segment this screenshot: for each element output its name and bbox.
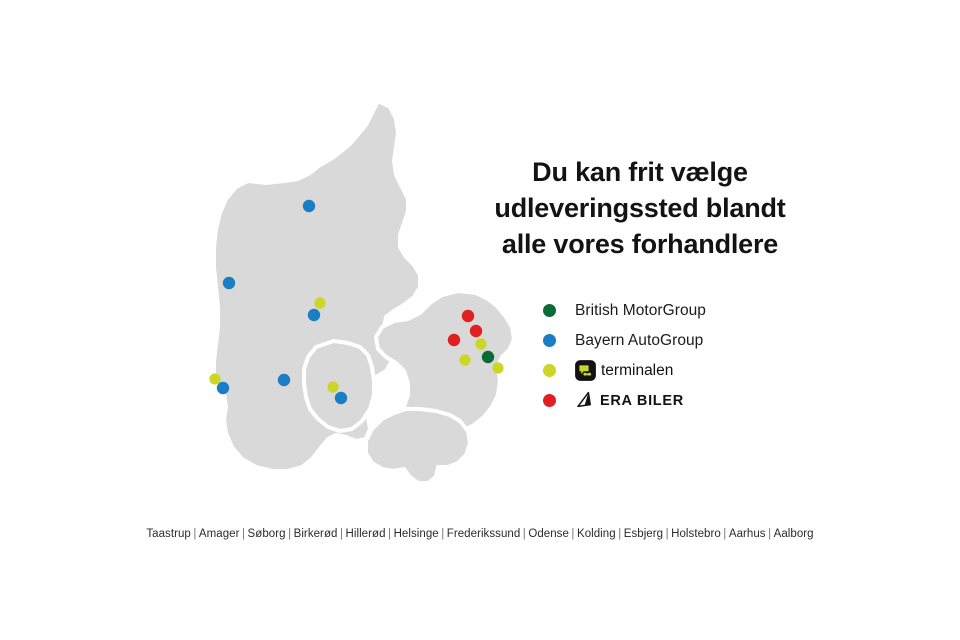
legend-item-era-biler[interactable]: ERA BILER bbox=[543, 388, 833, 413]
city-item: Odense bbox=[528, 528, 569, 540]
headline-line-2: udleveringssted blandt bbox=[470, 191, 810, 227]
terminalen-brand-lockup: terminalen bbox=[575, 360, 673, 381]
city-item: Helsinge bbox=[394, 528, 439, 540]
city-item: Frederikssund bbox=[447, 528, 521, 540]
city-separator: | bbox=[663, 528, 671, 540]
city-item: Søborg bbox=[248, 528, 286, 540]
map-marker-esbjerg-terminalen[interactable] bbox=[209, 373, 220, 384]
legend-dot-green bbox=[543, 304, 556, 317]
city-separator: | bbox=[191, 528, 199, 540]
era-biler-triangle-icon bbox=[575, 391, 595, 410]
city-separator: | bbox=[721, 528, 729, 540]
city-separator: | bbox=[766, 528, 774, 540]
city-item: Aarhus bbox=[729, 528, 766, 540]
map-marker-hillerod[interactable] bbox=[470, 325, 482, 337]
map-marker-soborg[interactable] bbox=[459, 354, 470, 365]
legend-dot-red bbox=[543, 394, 556, 407]
legend-label-bayern-autogroup: Bayern AutoGroup bbox=[575, 332, 703, 350]
city-item: Esbjerg bbox=[624, 528, 663, 540]
map-marker-aarhus-terminalen[interactable] bbox=[314, 297, 325, 308]
city-item: Holstebro bbox=[671, 528, 721, 540]
legend-label-terminalen: terminalen bbox=[601, 362, 673, 380]
city-item: Hillerød bbox=[346, 528, 386, 540]
city-separator: | bbox=[337, 528, 345, 540]
legend-dot-yellow bbox=[543, 364, 556, 377]
headline-line-1: Du kan frit vælge bbox=[470, 155, 810, 191]
poster-canvas: Du kan frit vælge udleveringssted blandt… bbox=[0, 0, 960, 640]
city-item: Taastrup bbox=[146, 528, 191, 540]
legend-label-era-biler: ERA BILER bbox=[600, 393, 684, 409]
map-marker-helsinge[interactable] bbox=[462, 310, 474, 322]
map-marker-odense-terminalen[interactable] bbox=[327, 381, 338, 392]
region-funen bbox=[304, 341, 374, 431]
legend-label-british-motorgroup: British MotorGroup bbox=[575, 302, 706, 320]
city-separator: | bbox=[439, 528, 447, 540]
map-marker-odense-bayern[interactable] bbox=[335, 392, 347, 404]
legend-item-bayern-autogroup[interactable]: Bayern AutoGroup bbox=[543, 328, 833, 353]
city-separator: | bbox=[386, 528, 394, 540]
dealer-legend: British MotorGroup Bayern AutoGroup term… bbox=[543, 298, 833, 418]
denmark-map-graphic bbox=[180, 95, 520, 500]
city-item: Amager bbox=[199, 528, 240, 540]
page-title: Du kan frit vælge udleveringssted blandt… bbox=[470, 155, 810, 263]
map-marker-holstebro[interactable] bbox=[223, 277, 235, 289]
city-item: Aalborg bbox=[774, 528, 814, 540]
map-marker-aarhus-bayern[interactable] bbox=[308, 309, 320, 321]
map-landmasses bbox=[214, 101, 514, 483]
city-item: Kolding bbox=[577, 528, 616, 540]
city-item: Birkerød bbox=[294, 528, 338, 540]
city-separator: | bbox=[616, 528, 624, 540]
map-marker-kolding[interactable] bbox=[278, 374, 290, 386]
map-marker-taastrup[interactable] bbox=[492, 362, 503, 373]
map-marker-birkerod[interactable] bbox=[475, 338, 486, 349]
terminalen-logo-icon bbox=[575, 360, 596, 381]
headline-line-3: alle vores forhandlere bbox=[470, 227, 810, 263]
legend-item-terminalen[interactable]: terminalen bbox=[543, 358, 833, 383]
denmark-map-panel bbox=[180, 95, 520, 500]
region-lolland-falster bbox=[366, 409, 470, 483]
legend-item-british-motorgroup[interactable]: British MotorGroup bbox=[543, 298, 833, 323]
map-marker-esbjerg-bayern[interactable] bbox=[217, 382, 229, 394]
map-marker-aalborg[interactable] bbox=[303, 200, 315, 212]
city-separator: | bbox=[286, 528, 294, 540]
era-biler-brand-lockup: ERA BILER bbox=[575, 391, 684, 410]
city-separator: | bbox=[569, 528, 577, 540]
map-marker-amager[interactable] bbox=[482, 351, 494, 363]
city-separator: | bbox=[240, 528, 248, 540]
city-list: Taastrup|Amager|Søborg|Birkerød|Hillerød… bbox=[0, 528, 960, 540]
legend-dot-blue bbox=[543, 334, 556, 347]
map-marker-frederikssund[interactable] bbox=[448, 334, 460, 346]
